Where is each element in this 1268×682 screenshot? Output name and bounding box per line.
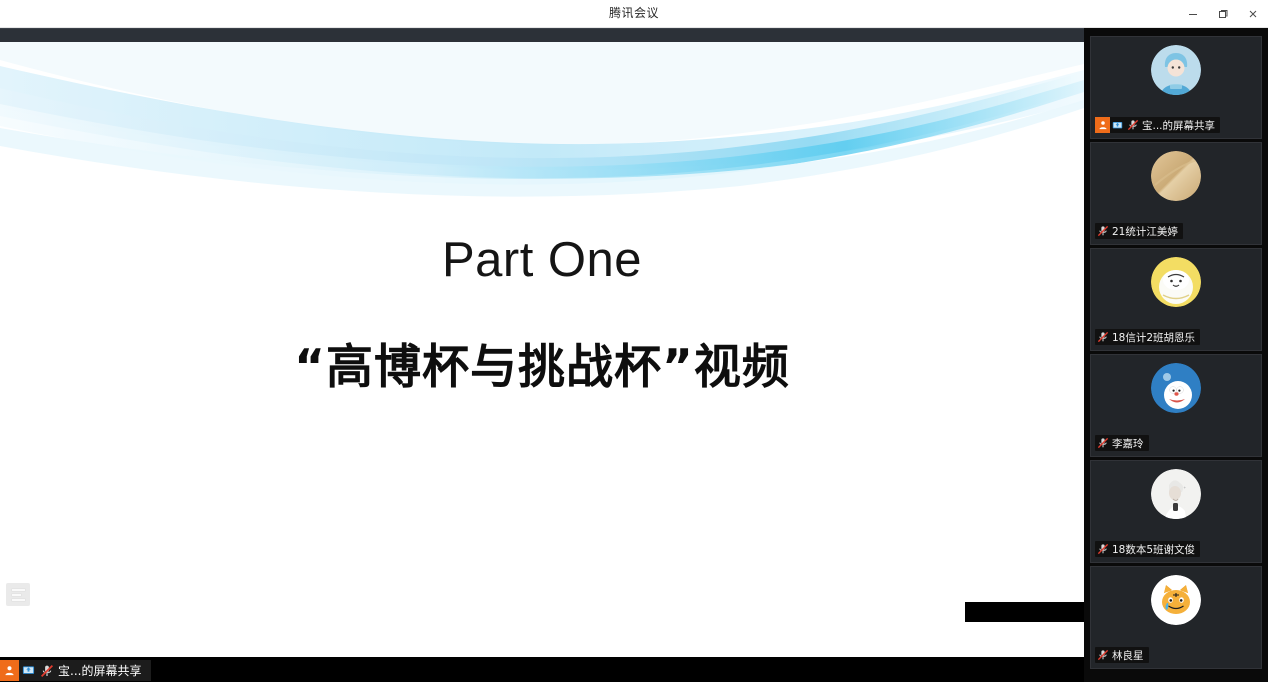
avatar — [1151, 363, 1201, 413]
participant-name: 李嘉玲 — [1112, 436, 1144, 451]
close-icon — [1247, 8, 1259, 20]
host-icon — [1095, 117, 1110, 133]
avatar — [1151, 257, 1201, 307]
shared-slide: Part One “高博杯与挑战杯”视频 — [0, 42, 1084, 657]
participant-name: 18数本5班谢文俊 — [1112, 542, 1195, 557]
participant-label: 18数本5班谢文俊 — [1095, 541, 1200, 557]
avatar — [1151, 575, 1201, 625]
participant-label: 林良星 — [1095, 647, 1149, 663]
screen-share-status-bar: 宝...的屏幕共享 — [0, 660, 151, 681]
close-button[interactable] — [1238, 0, 1268, 27]
participant-tile[interactable]: 18信计2班胡恩乐 — [1090, 248, 1262, 351]
menu-line — [12, 594, 21, 596]
mic-muted-icon — [1125, 117, 1140, 133]
avatar: ✦ — [1151, 469, 1201, 519]
minimize-button[interactable] — [1178, 0, 1208, 27]
participant-label: 宝...的屏幕共享 — [1095, 117, 1220, 133]
mic-muted-icon — [1095, 435, 1110, 451]
participant-name: 18信计2班胡恩乐 — [1112, 330, 1195, 345]
participant-tile[interactable]: 宝...的屏幕共享 — [1090, 36, 1262, 139]
restore-button[interactable] — [1208, 0, 1238, 27]
avatar — [1151, 151, 1201, 201]
window-title: 腾讯会议 — [0, 0, 1268, 27]
participant-tile[interactable]: 李嘉玲 — [1090, 354, 1262, 457]
participant-label: 18信计2班胡恩乐 — [1095, 329, 1200, 345]
slide-content: Part One “高博杯与挑战杯”视频 — [0, 42, 1084, 657]
mic-muted-icon — [38, 660, 55, 681]
window-controls — [1178, 0, 1268, 27]
stage-top-strip — [0, 28, 1084, 42]
stage-control-bar-fragment — [965, 602, 1084, 622]
stage-bottom-gutter — [0, 657, 1084, 682]
participant-filmstrip[interactable]: 宝...的屏幕共享 — [1084, 28, 1268, 682]
menu-line — [12, 589, 25, 591]
title-bar: 腾讯会议 — [0, 0, 1268, 28]
shared-screen-stage[interactable]: Part One “高博杯与挑战杯”视频 — [0, 28, 1084, 682]
participant-name: 林良星 — [1112, 648, 1144, 663]
host-icon — [0, 660, 19, 681]
mic-muted-icon — [1095, 647, 1110, 663]
mic-muted-icon — [1095, 223, 1110, 239]
screen-share-owner-name: 宝...的屏幕共享 — [58, 662, 141, 679]
participant-tile[interactable]: 21统计江美婷 — [1090, 142, 1262, 245]
menu-line — [12, 599, 25, 601]
mic-muted-icon — [1095, 541, 1110, 557]
slide-title-english: Part One — [0, 232, 1084, 288]
screen-share-icon — [1110, 117, 1125, 133]
participant-tile[interactable]: 林良星 — [1090, 566, 1262, 669]
screen-share-icon — [20, 660, 37, 681]
participant-tile[interactable]: ✦ 18数本5班谢文俊 — [1090, 460, 1262, 563]
participant-label: 21统计江美婷 — [1095, 223, 1183, 239]
participant-name: 21统计江美婷 — [1112, 224, 1178, 239]
mic-muted-icon — [1095, 329, 1110, 345]
avatar — [1151, 45, 1201, 95]
participant-label: 李嘉玲 — [1095, 435, 1149, 451]
participant-name: 宝...的屏幕共享 — [1142, 118, 1215, 133]
slide-title-chinese: “高博杯与挑战杯”视频 — [0, 328, 1084, 397]
slide-menu-button[interactable] — [6, 583, 30, 606]
minimize-icon — [1187, 8, 1199, 20]
restore-icon — [1217, 8, 1229, 20]
tencent-meeting-window: 腾讯会议 — [0, 0, 1268, 682]
